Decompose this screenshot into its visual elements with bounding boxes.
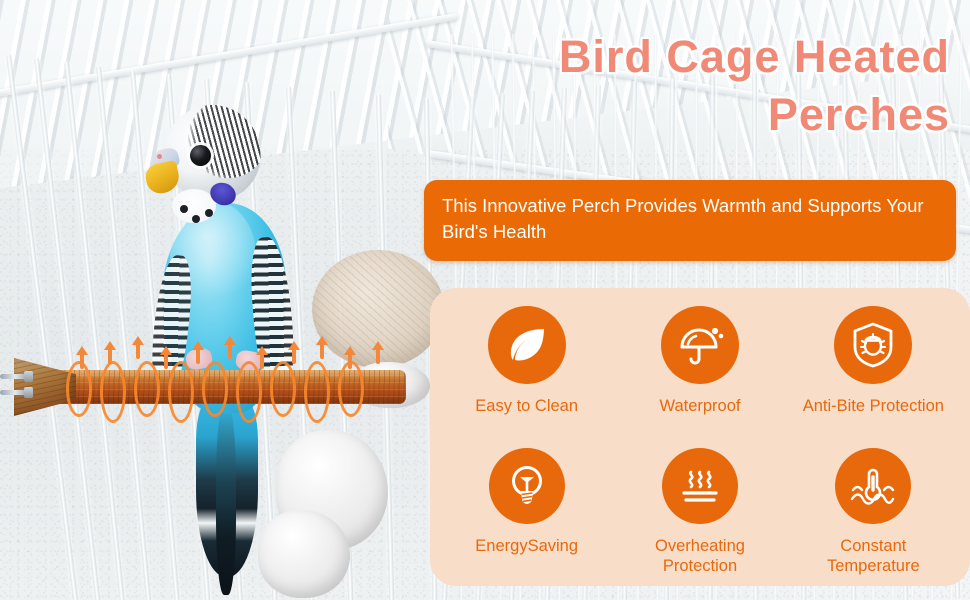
heat-ring <box>168 361 194 423</box>
feature-label: Easy to Clean <box>475 396 578 416</box>
feature-grid: Easy to Clean Waterproof <box>440 306 960 576</box>
lightbulb-icon <box>489 448 565 524</box>
heat-ring <box>202 361 228 417</box>
feature-label: EnergySaving <box>475 536 578 556</box>
bird-tail-center-feather <box>216 405 236 595</box>
product-infographic: Bird Cage Heated Perches This Innovative… <box>0 0 970 600</box>
perch-screw-head-lower <box>24 387 33 398</box>
budgerigar-bird <box>150 105 340 575</box>
feature-waterproof: Waterproof <box>613 306 786 448</box>
shield-bug-icon <box>834 306 912 384</box>
bird-throat-spot-1 <box>180 205 188 213</box>
feature-constant-temperature: ConstantTemperature <box>787 448 960 598</box>
cage-wire-front <box>64 62 127 600</box>
bird-beak <box>143 160 182 196</box>
feature-label: Anti-Bite Protection <box>803 396 944 416</box>
bird-head-stripes <box>182 98 267 184</box>
heat-ring <box>66 361 92 417</box>
bird-eye <box>190 145 211 166</box>
cage-wire-front <box>96 66 153 600</box>
umbrella-droplets-icon <box>661 306 739 384</box>
subtitle-banner: This Innovative Perch Provides Warmth an… <box>424 180 956 261</box>
thermometer-waves-icon <box>835 448 911 524</box>
bird-throat-spot-3 <box>205 209 213 217</box>
feature-label: Waterproof <box>659 396 740 416</box>
heated-perch <box>0 352 420 422</box>
feature-energy-saving: EnergySaving <box>440 448 613 598</box>
heat-ring <box>100 361 126 423</box>
bird-nostril <box>157 154 162 159</box>
heat-ring <box>270 361 296 417</box>
bird-throat-spot-2 <box>192 215 200 223</box>
heat-ring <box>134 361 160 417</box>
heat-ring <box>338 361 364 417</box>
perch-screw-head-upper <box>24 371 33 382</box>
feature-overheating-protection: OverheatingProtection <box>613 448 786 598</box>
feature-panel: Easy to Clean Waterproof <box>430 288 970 586</box>
heat-ring <box>304 361 330 423</box>
leaf-icon <box>488 306 566 384</box>
feature-anti-bite-protection: Anti-Bite Protection <box>787 306 960 448</box>
heat-ring <box>236 361 262 423</box>
feature-label: ConstantTemperature <box>827 536 920 576</box>
feature-label: OverheatingProtection <box>655 536 745 576</box>
feature-easy-to-clean: Easy to Clean <box>440 306 613 448</box>
heat-waves-icon <box>662 448 738 524</box>
